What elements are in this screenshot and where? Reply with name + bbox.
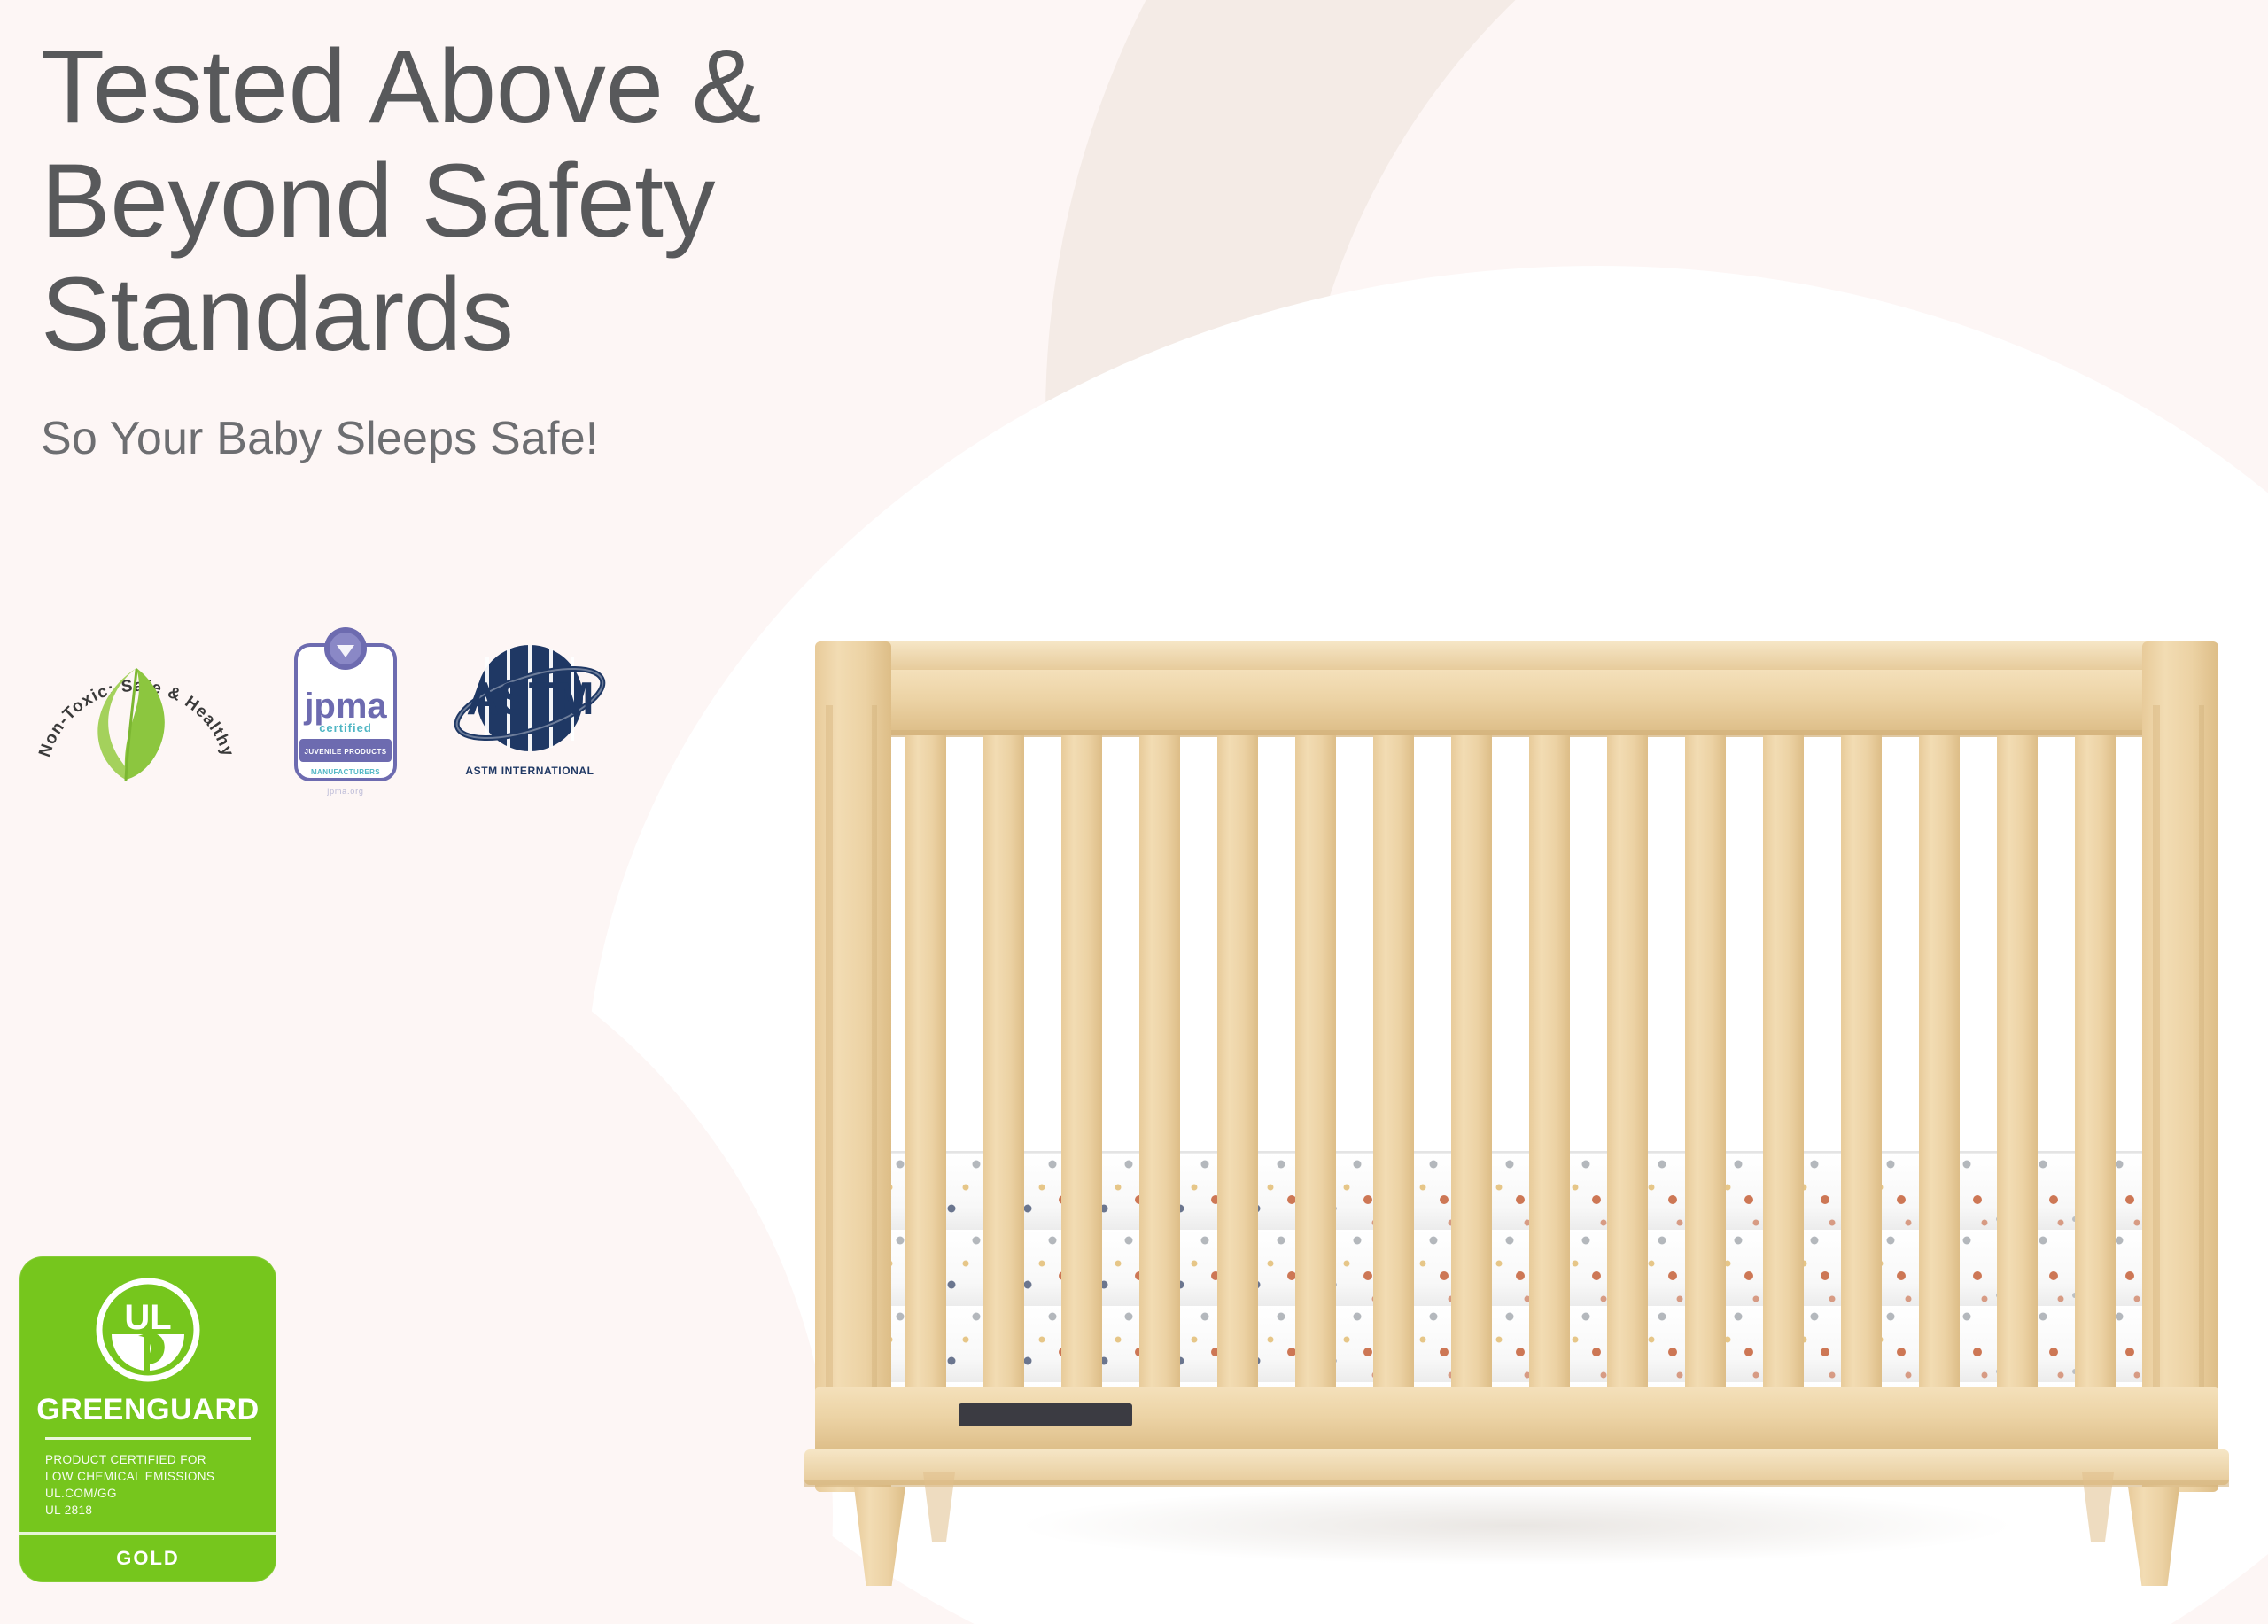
headline-line-1: Tested Above & [41,30,1086,144]
astm-international-badge: ASTM ASTM INTERNATIONAL [445,633,622,792]
jpma-badge-graphic: jpma certified JUVENILE PRODUCTS MANUFAC… [285,626,406,799]
headline-line-2: Beyond Safety [41,144,1086,259]
ul-logo-icon: UL [96,1278,200,1382]
greenguard-fine-line-1: PRODUCT CERTIFIED FOR [45,1451,251,1468]
jpma-certified-badge: jpma certified JUVENILE PRODUCTS MANUFAC… [285,626,406,799]
crib-slat [983,735,1024,1393]
crib-slat [1295,735,1336,1393]
greenguard-gold-badge: UL GREENGUARD PRODUCT CERTIFIED FOR LOW … [19,1256,276,1582]
crib-illustration [773,620,2261,1586]
crib-slat [1217,735,1258,1393]
greenguard-fine-line-4: UL 2818 [45,1502,251,1519]
greenguard-fine-print: PRODUCT CERTIFIED FOR LOW CHEMICAL EMISS… [45,1451,251,1519]
jpma-band-text: JUVENILE PRODUCTS [304,748,386,756]
page-subtitle: So Your Baby Sleeps Safe! [41,411,1086,466]
greenguard-tier-label: GOLD [19,1535,276,1582]
product-image-crib [773,620,2261,1586]
ul-logo-text: UL [124,1298,171,1337]
leaf-badge-graphic: Non-Toxic: Safe & Healthy [27,626,246,799]
astm-subtitle: ASTM INTERNATIONAL [465,765,594,777]
crib-leg-front-left [854,1487,905,1586]
crib-slat [1061,735,1102,1393]
crib-slat [1997,735,2038,1393]
crib-slat [2075,735,2116,1393]
astm-badge-graphic: ASTM ASTM INTERNATIONAL [445,633,622,792]
page-title: Tested Above & Beyond Safety Standards [41,30,1086,372]
astm-wordmark: ASTM [466,673,593,725]
headline-line-3: Standards [41,258,1086,372]
jpma-subtitle: certified [319,721,372,734]
certification-badge-row: Non-Toxic: Safe & Healthy [27,626,622,799]
crib-leg-back-left [923,1472,955,1542]
greenguard-fine-line-3: UL.COM/GG [45,1485,251,1502]
greenguard-fine-line-2: LOW CHEMICAL EMISSIONS [45,1468,251,1485]
crib-slat [1373,735,1414,1393]
crib-leg-back-right [2082,1472,2114,1542]
crib-slat [905,735,946,1393]
crib-slat [1841,735,1882,1393]
greenguard-title: GREENGUARD [36,1395,260,1425]
crib-leg-front-right [2128,1487,2179,1586]
jpma-footer-text: MANUFACTURERS [311,768,380,776]
crib-top-rail [815,670,2218,735]
crib-slat [1607,735,1648,1393]
crib-top-rail-cap [815,641,2218,672]
promo-banner: Tested Above & Beyond Safety Standards S… [0,0,2268,1624]
non-toxic-safe-healthy-badge: Non-Toxic: Safe & Healthy [27,626,246,799]
headline-block: Tested Above & Beyond Safety Standards S… [41,30,1086,466]
crib-slat [1451,735,1492,1393]
crib-floor-shadow [1021,1487,2013,1565]
brand-plate [959,1403,1132,1426]
jpma-seal-icon [324,627,367,670]
crib-slat [1685,735,1726,1393]
crib-slat [1529,735,1570,1393]
greenguard-divider [45,1437,251,1440]
crib-slat [1763,735,1804,1393]
crib-mattress [858,1152,2176,1389]
crib-slat [1139,735,1180,1393]
jpma-caption: jpma.org [326,787,363,796]
crib-slat [1919,735,1960,1393]
jpma-wordmark: jpma [303,687,387,726]
